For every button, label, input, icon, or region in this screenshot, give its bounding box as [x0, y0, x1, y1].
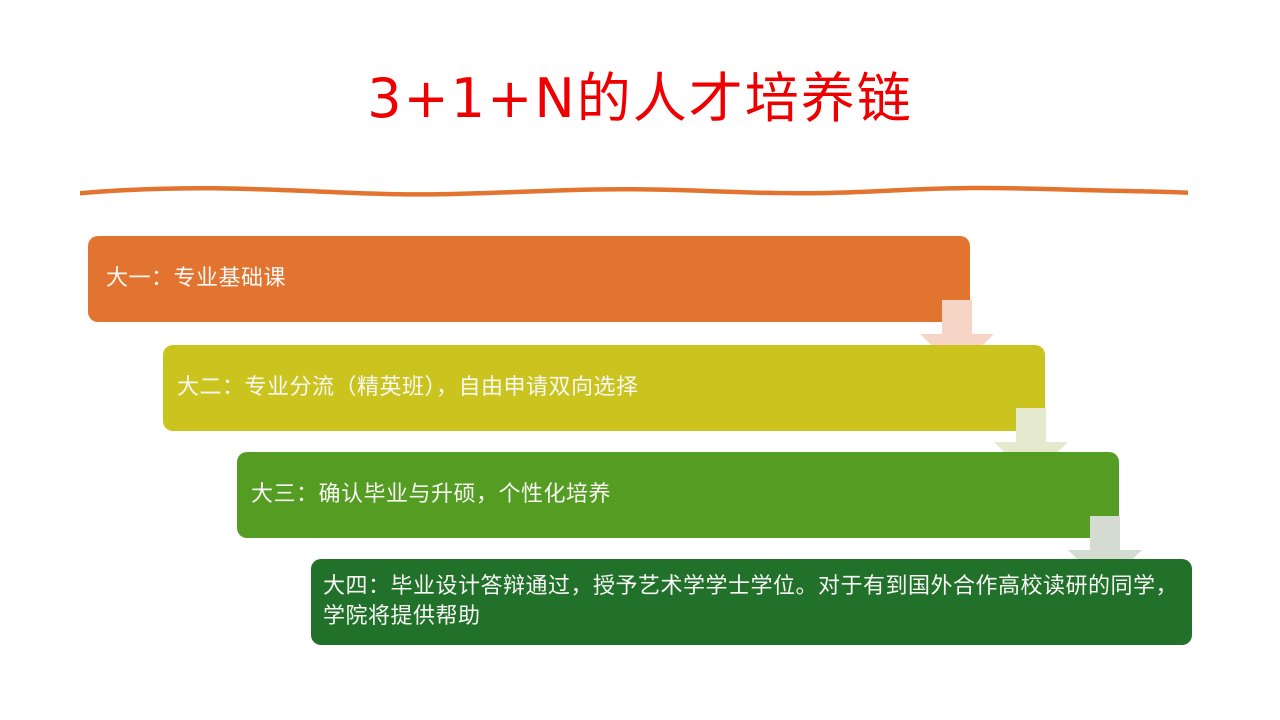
chain-bar-year-3[interactable]: 大三：确认毕业与升硕，个性化培养 — [237, 452, 1119, 538]
chain-bar-label: 大四：毕业设计答辩通过，授予艺术学学士学位。对于有到国外合作高校读研的同学，学院… — [323, 572, 1182, 631]
chain-bar-year-2[interactable]: 大二：专业分流（精英班），自由申请双向选择 — [163, 345, 1045, 431]
chain-bar-label: 大三：确认毕业与升硕，个性化培养 — [251, 479, 611, 510]
chain-bar-year-1[interactable]: 大一：专业基础课 — [88, 236, 970, 322]
chain-bar-label: 大二：专业分流（精英班），自由申请双向选择 — [177, 372, 639, 403]
slide-canvas: 3+1+N的人才培养链 大一：专业基础课 大二：专业分流（精英班），自由申请双向… — [0, 0, 1280, 720]
chain-bar-year-4[interactable]: 大四：毕业设计答辩通过，授予艺术学学士学位。对于有到国外合作高校读研的同学，学院… — [311, 559, 1192, 645]
wavy-divider — [78, 176, 1190, 202]
page-title: 3+1+N的人才培养链 — [0, 68, 1280, 130]
chain-bar-label: 大一：专业基础课 — [106, 263, 286, 294]
